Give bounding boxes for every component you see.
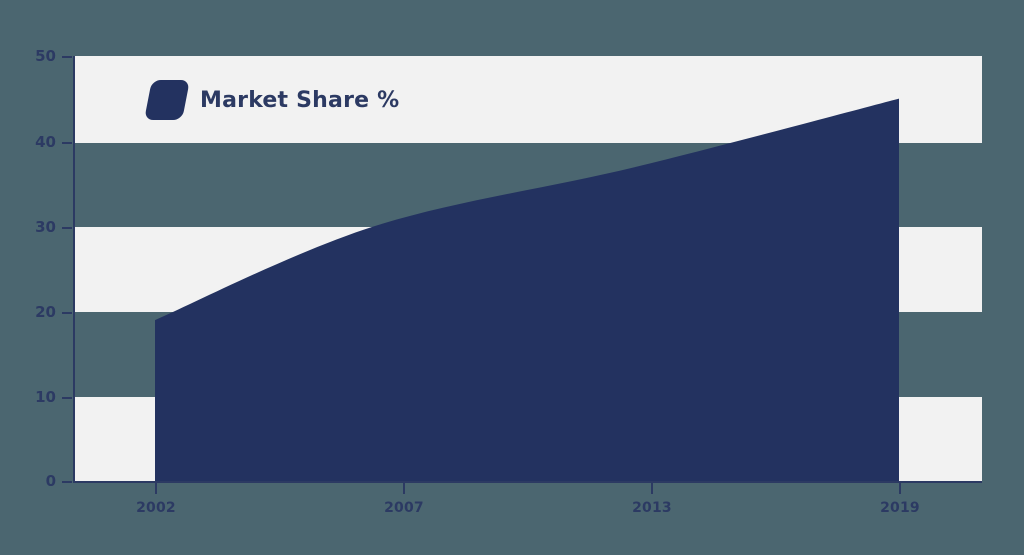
chart-legend: Market Share % (148, 80, 399, 120)
x-tick-mark-2002 (155, 483, 157, 494)
area-series-swatch (144, 80, 190, 120)
y-tick-mark-0 (62, 481, 72, 483)
y-tick-mark-50 (62, 56, 72, 58)
y-axis-line (73, 56, 75, 483)
x-tick-label-2007: 2007 (364, 500, 444, 516)
x-tick-mark-2013 (651, 483, 653, 494)
y-tick-label-40: 40 (10, 133, 56, 151)
x-tick-mark-2007 (403, 483, 405, 494)
chart-canvas: 50 40 30 20 10 0 2002 2007 2013 2019 Mar… (0, 0, 1024, 555)
legend-item-label: Market Share % (200, 88, 399, 113)
plot-band-20-30 (74, 227, 982, 312)
y-tick-mark-30 (62, 227, 72, 229)
y-tick-label-30: 30 (10, 218, 56, 236)
x-tick-mark-2019 (899, 483, 901, 494)
y-tick-label-10: 10 (10, 388, 56, 406)
y-tick-mark-40 (62, 142, 72, 144)
y-tick-label-20: 20 (10, 303, 56, 321)
plot-band-0-10 (74, 397, 982, 482)
y-tick-mark-10 (62, 397, 72, 399)
x-tick-label-2002: 2002 (116, 500, 196, 516)
y-tick-label-0: 0 (10, 472, 56, 490)
x-tick-label-2013: 2013 (612, 500, 692, 516)
x-axis-line (73, 481, 982, 483)
x-tick-label-2019: 2019 (860, 500, 940, 516)
y-tick-label-50: 50 (10, 47, 56, 65)
y-tick-mark-20 (62, 312, 72, 314)
